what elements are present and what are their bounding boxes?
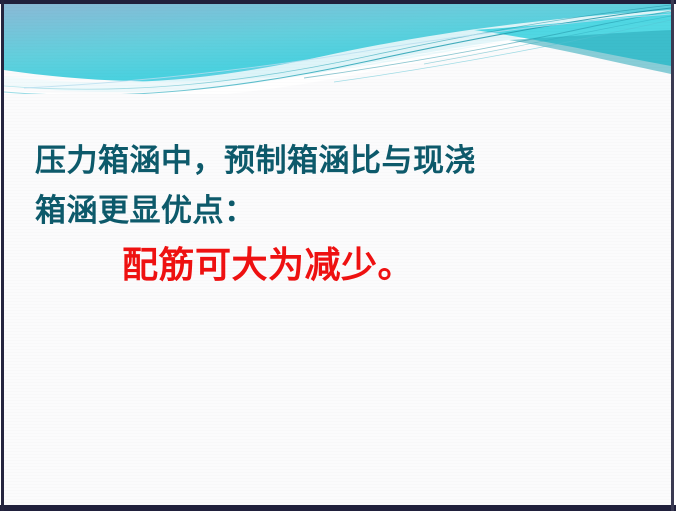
body-line-1: 压力箱涵中，预制箱涵比与现浇 xyxy=(35,142,476,180)
slide-body-text: 压力箱涵中，预制箱涵比与现浇 箱涵更显优点： 配筋可大为减少。 xyxy=(4,4,671,505)
slide-border-left xyxy=(1,0,4,511)
body-line-3-highlight: 配筋可大为减少。 xyxy=(122,244,414,288)
slide-frame: 压力箱涵中，预制箱涵比与现浇 箱涵更显优点： 配筋可大为减少。 xyxy=(0,0,676,511)
slide-border-top xyxy=(0,0,676,4)
slide-border-bottom xyxy=(0,505,676,511)
slide-canvas: 压力箱涵中，预制箱涵比与现浇 箱涵更显优点： 配筋可大为减少。 xyxy=(4,4,671,505)
slide-border-right xyxy=(671,0,674,511)
body-line-2: 箱涵更显优点： xyxy=(35,192,256,230)
